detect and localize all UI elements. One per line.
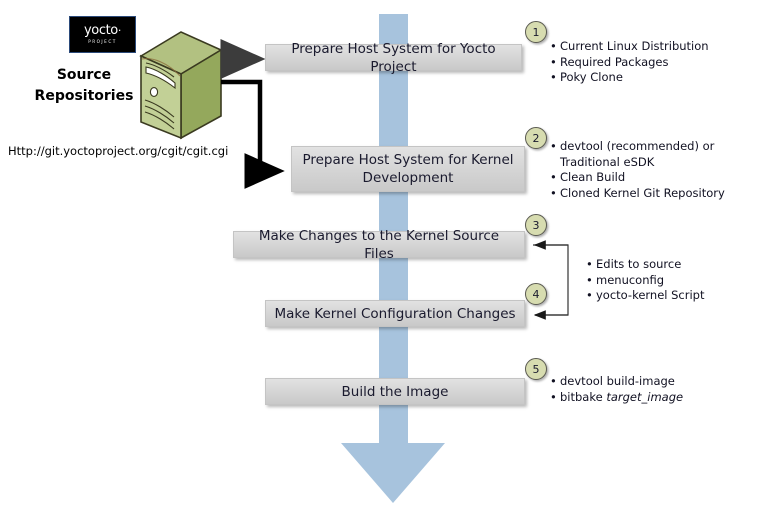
list-item: Edits to source bbox=[596, 257, 705, 273]
process-box-step4[interactable]: Make Kernel Configuration Changes bbox=[265, 300, 525, 327]
bullet-list-step5: devtool build-image bitbake target_image bbox=[547, 374, 683, 405]
process-box-step5-label: Build the Image bbox=[342, 383, 449, 401]
list-item: menuconfig bbox=[596, 273, 705, 289]
source-label-line1: Source bbox=[26, 65, 142, 86]
bitbake-command-target: target_image bbox=[606, 390, 683, 404]
list-item: Required Packages bbox=[560, 55, 709, 71]
list-item: Clean Build bbox=[560, 170, 725, 186]
step-number-badge-1: 1 bbox=[525, 21, 547, 43]
process-box-step5[interactable]: Build the Image bbox=[265, 378, 525, 405]
logo-wordmark: yocto· bbox=[84, 24, 121, 37]
process-box-step4-label: Make Kernel Configuration Changes bbox=[274, 305, 515, 323]
bullet-list-step1: Current Linux Distribution Required Pack… bbox=[547, 39, 709, 86]
list-item: devtool build-image bbox=[560, 374, 683, 390]
list-item: bitbake target_image bbox=[560, 390, 683, 406]
bitbake-command-prefix: bitbake bbox=[560, 390, 606, 404]
step-number-badge-4: 4 bbox=[525, 283, 547, 305]
server-icon bbox=[133, 30, 225, 140]
step-number-badge-5: 5 bbox=[525, 358, 547, 380]
list-item: Current Linux Distribution bbox=[560, 39, 709, 55]
process-box-step1-label: Prepare Host System for Yocto Project bbox=[274, 40, 513, 76]
process-box-step3[interactable]: Make Changes to the Kernel Source Files bbox=[233, 231, 525, 258]
process-box-step1[interactable]: Prepare Host System for Yocto Project bbox=[265, 44, 522, 71]
bullet-list-step2: devtool (recommended) or Traditional eSD… bbox=[547, 139, 725, 201]
list-item: Poky Clone bbox=[560, 70, 709, 86]
source-repository-url: Http://git.yoctoproject.org/cgit/cgit.cg… bbox=[8, 144, 228, 158]
logo-dot: · bbox=[118, 24, 121, 37]
list-item: devtool (recommended) or Traditional eSD… bbox=[560, 139, 720, 170]
list-item: Cloned Kernel Git Repository bbox=[560, 186, 725, 202]
logo-word-text: yocto bbox=[84, 23, 118, 38]
flow-arrow-head bbox=[341, 443, 445, 503]
step-number-badge-3: 3 bbox=[525, 214, 547, 236]
process-box-step2-line2: Development bbox=[363, 170, 454, 186]
process-box-step3-label: Make Changes to the Kernel Source Files bbox=[242, 227, 516, 263]
list-item: yocto-kernel Script bbox=[596, 288, 705, 304]
logo-subtitle: PROJECT bbox=[88, 38, 117, 45]
diagram-canvas: yocto· PROJECT Source Repositories Http:… bbox=[0, 0, 769, 517]
source-repositories-label: Source Repositories bbox=[26, 65, 142, 107]
step-number-badge-2: 2 bbox=[525, 127, 547, 149]
process-box-step2-label: Prepare Host System for Kernel Developme… bbox=[302, 151, 513, 187]
bullet-list-steps-3-4: Edits to source menuconfig yocto-kernel … bbox=[583, 257, 705, 304]
yocto-project-logo: yocto· PROJECT bbox=[69, 16, 136, 53]
process-box-step2-line1: Prepare Host System for Kernel bbox=[302, 152, 513, 168]
source-label-line2: Repositories bbox=[26, 86, 142, 107]
process-box-step2[interactable]: Prepare Host System for Kernel Developme… bbox=[291, 146, 525, 192]
